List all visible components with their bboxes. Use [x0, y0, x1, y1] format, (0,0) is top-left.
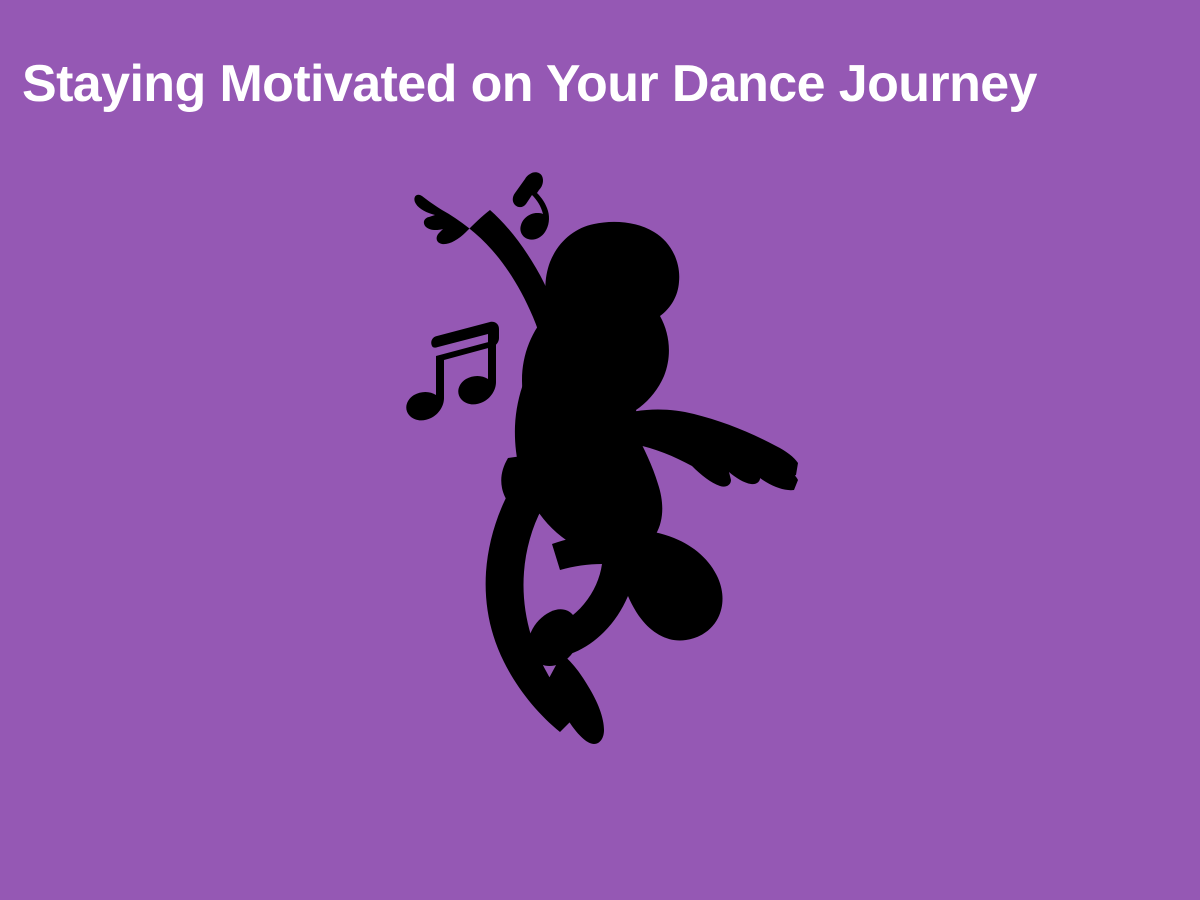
page-title: Staying Motivated on Your Dance Journey: [22, 56, 1192, 112]
dancer-figure: [414, 195, 798, 744]
dancer-illustration: [398, 160, 800, 744]
eighth-note: [513, 172, 549, 239]
pointed-foot: [548, 654, 604, 744]
banner: Staying Motivated on Your Dance Journey: [0, 0, 1200, 900]
beamed-eighth-notes: [406, 322, 499, 421]
